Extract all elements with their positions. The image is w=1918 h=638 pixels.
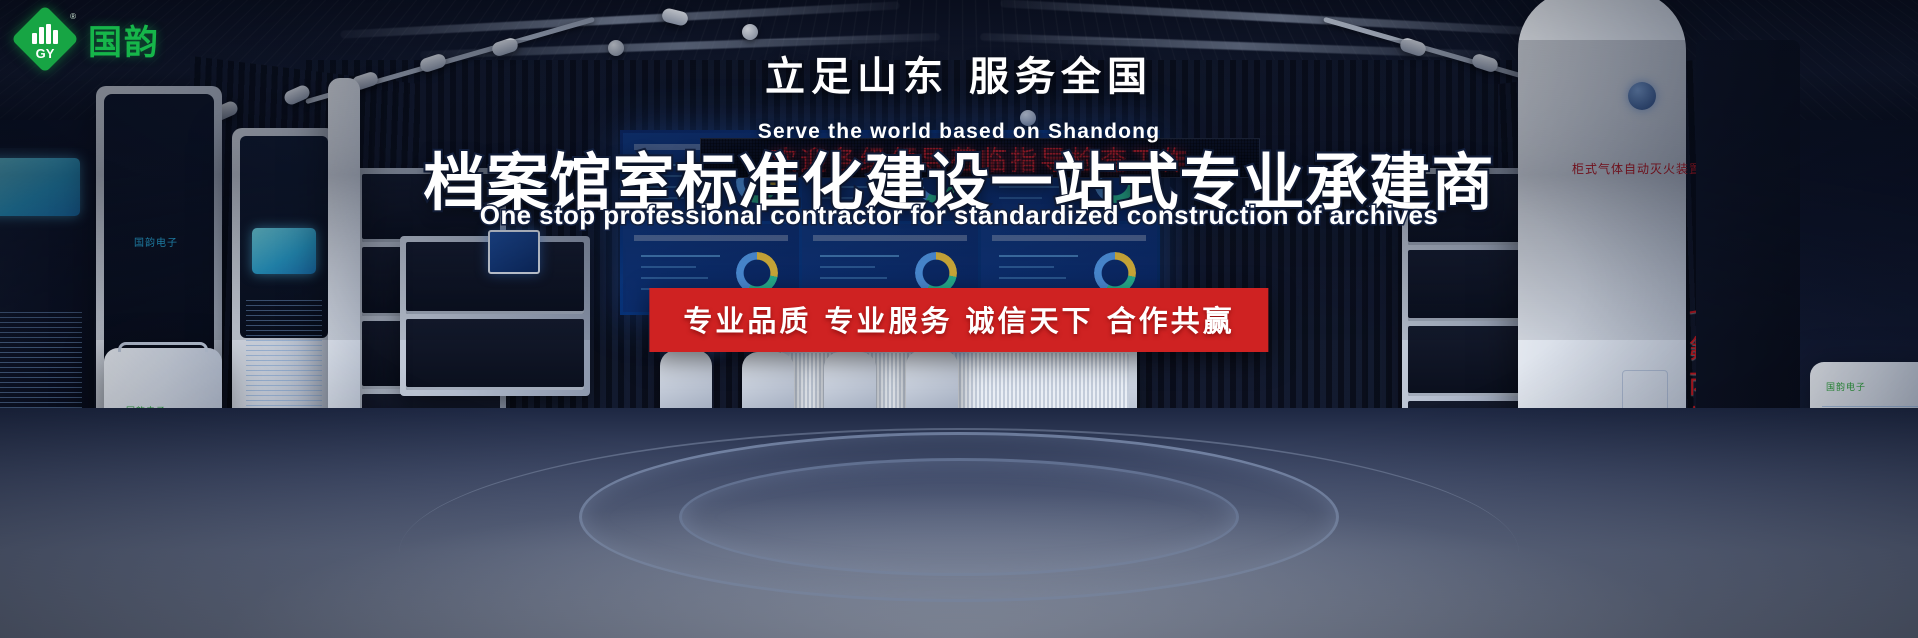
hero-banner: 欢迎各级领导莅临指导检查工作 国韵电子 国韵电子 国韵电子 <box>0 0 1918 638</box>
hero-kicker-cn: 立足山东 服务全国 <box>0 44 1918 102</box>
text-overlay: GY ® 国韵 立足山东 服务全国 Serve the world based … <box>0 0 1918 638</box>
hero-slogan-banner[interactable]: 专业品质 专业服务 诚信天下 合作共赢 <box>649 288 1268 352</box>
hero-headline-en: One stop professional contractor for sta… <box>0 200 1918 231</box>
registered-trademark-icon: ® <box>70 12 76 21</box>
hero-slogan-text: 专业品质 专业服务 诚信天下 合作共赢 <box>683 298 1234 340</box>
logo-buildings-icon <box>32 24 58 44</box>
